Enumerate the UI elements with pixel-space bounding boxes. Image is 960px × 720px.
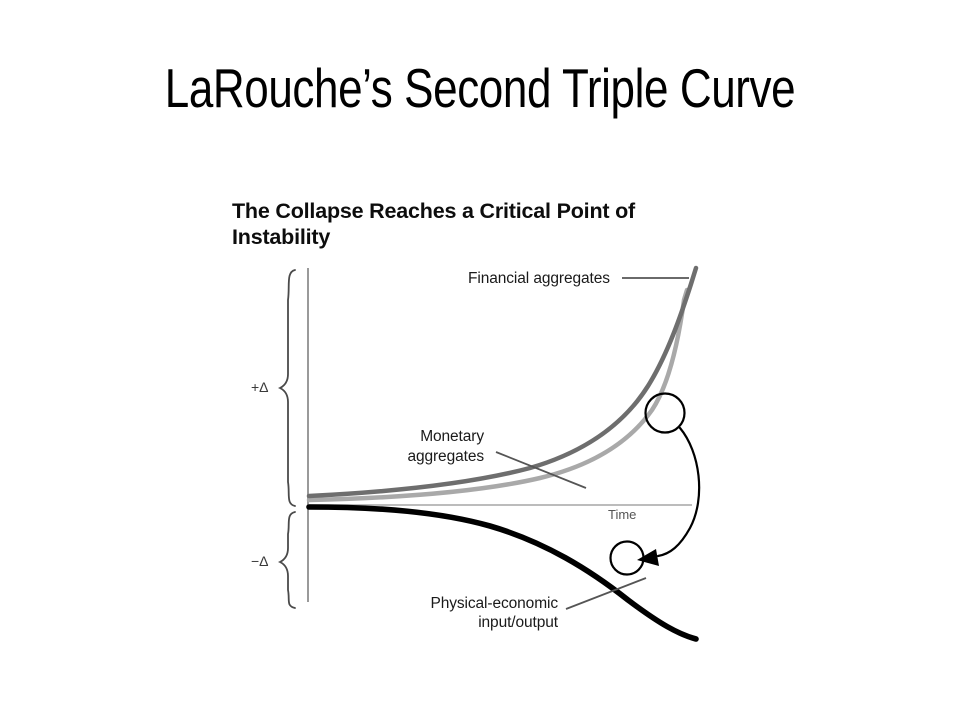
critical-point-physical-circle bbox=[611, 542, 644, 575]
physical-economic-label-line-1: Physical-economic bbox=[430, 595, 558, 612]
collapse-arrow-head bbox=[637, 549, 659, 566]
monetary-aggregates-label-line-2: aggregates bbox=[407, 448, 484, 465]
triple-curve-figure: The Collapse Reaches a Critical Point of… bbox=[0, 0, 960, 720]
negative-delta-label: −Δ bbox=[251, 553, 269, 569]
figure-caption-line-2: Instability bbox=[232, 225, 330, 249]
x-axis-label: Time bbox=[608, 507, 636, 522]
positive-delta-label: +Δ bbox=[251, 379, 269, 395]
monetary-aggregates-label-line-1: Monetary bbox=[420, 428, 484, 445]
figure-caption-line-1: The Collapse Reaches a Critical Point of bbox=[232, 199, 636, 223]
collapse-arrow-shaft bbox=[658, 428, 699, 556]
monetary-aggregates-curve bbox=[309, 290, 687, 500]
financial-aggregates-curve bbox=[309, 268, 696, 496]
financial-aggregates-label: Financial aggregates bbox=[468, 270, 610, 287]
negative-delta-bracket bbox=[280, 512, 295, 608]
positive-delta-bracket bbox=[280, 270, 295, 506]
physical-economic-label-line-2: input/output bbox=[478, 614, 559, 631]
